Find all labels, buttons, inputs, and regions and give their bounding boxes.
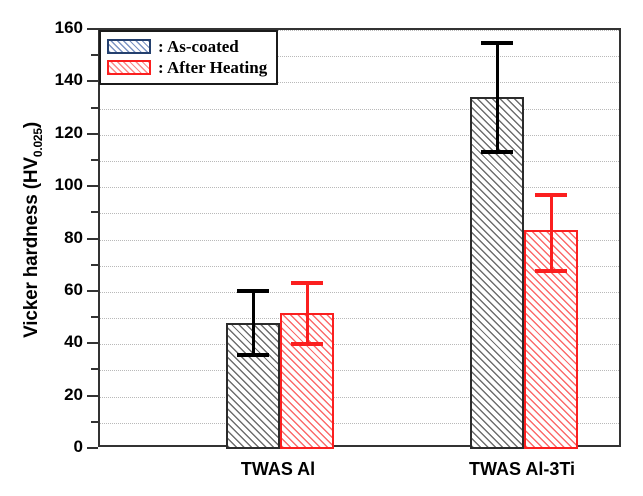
error-bar-cap-lower: [535, 269, 567, 273]
bar-after-heating-twas-al-3ti: [524, 230, 578, 449]
red-hatch-swatch-icon: [107, 60, 151, 75]
chart-legend: : As-coated : After Heating: [99, 30, 278, 85]
y-axis-major-tick: [87, 342, 98, 344]
y-axis-tick-label: 0: [33, 437, 83, 457]
gridline: [100, 135, 619, 136]
gridline: [100, 213, 619, 214]
gridlines: [100, 30, 619, 445]
y-axis-major-tick: [87, 133, 98, 135]
gridline: [100, 109, 619, 110]
gridline: [100, 397, 619, 398]
gridline: [100, 344, 619, 345]
gridline: [100, 161, 619, 162]
bar-after-heating-twas-al: [280, 313, 334, 449]
y-axis-tick-label: 100: [33, 175, 83, 195]
y-axis-minor-tick: [91, 264, 98, 266]
y-axis-major-tick: [87, 80, 98, 82]
y-axis-major-tick: [87, 238, 98, 240]
y-axis-major-tick: [87, 395, 98, 397]
legend-item-as-coated: : As-coated: [107, 36, 267, 57]
gridline: [100, 318, 619, 319]
y-axis-tick-label: 60: [33, 280, 83, 300]
error-bar-stem: [306, 283, 309, 345]
error-bar-cap-upper: [237, 289, 269, 293]
y-axis-tick-label: 20: [33, 385, 83, 405]
error-bar-cap-upper: [481, 41, 513, 45]
error-bar-stem: [496, 43, 499, 152]
y-axis-minor-tick: [91, 316, 98, 318]
gridline: [100, 187, 619, 188]
gridline: [100, 240, 619, 241]
x-axis-label-twas-al: TWAS Al: [241, 459, 315, 480]
error-bar-stem: [550, 195, 553, 271]
y-axis-major-tick: [87, 28, 98, 30]
blue-hatch-swatch-icon: [107, 39, 151, 54]
chart-figure: Vicker hardness (HV0.025) 02040608010012…: [0, 0, 643, 496]
x-axis-label-twas-al-3ti: TWAS Al-3Ti: [469, 459, 575, 480]
gridline: [100, 292, 619, 293]
y-axis-minor-tick: [91, 368, 98, 370]
bar-as-coated-twas-al-3ti: [470, 97, 524, 449]
error-bar-stem: [252, 291, 255, 355]
y-axis-major-tick: [87, 185, 98, 187]
bar-as-coated-twas-al: [226, 323, 280, 449]
error-bar-cap-lower: [481, 150, 513, 154]
y-axis-minor-tick: [91, 211, 98, 213]
y-axis-tick-label: 140: [33, 70, 83, 90]
y-axis-tick-label: 120: [33, 123, 83, 143]
legend-item-after-heating: : After Heating: [107, 57, 267, 78]
gridline: [100, 370, 619, 371]
y-axis-tick-label: 40: [33, 332, 83, 352]
error-bar-cap-upper: [535, 193, 567, 197]
plot-area: [98, 28, 621, 447]
legend-label-after-heating: : After Heating: [158, 59, 267, 76]
y-axis-major-tick: [87, 447, 98, 449]
y-axis-minor-tick: [91, 54, 98, 56]
legend-label-as-coated: : As-coated: [158, 38, 239, 55]
y-axis-tick-label: 80: [33, 228, 83, 248]
gridline: [100, 266, 619, 267]
bars-and-error-bars: [100, 30, 619, 445]
y-axis-minor-tick: [91, 107, 98, 109]
y-axis-minor-tick: [91, 159, 98, 161]
error-bar-cap-lower: [237, 353, 269, 357]
error-bar-cap-upper: [291, 281, 323, 285]
y-axis-major-tick: [87, 290, 98, 292]
gridline: [100, 423, 619, 424]
y-axis-minor-tick: [91, 421, 98, 423]
y-axis-tick-label: 160: [33, 18, 83, 38]
error-bar-cap-lower: [291, 342, 323, 346]
